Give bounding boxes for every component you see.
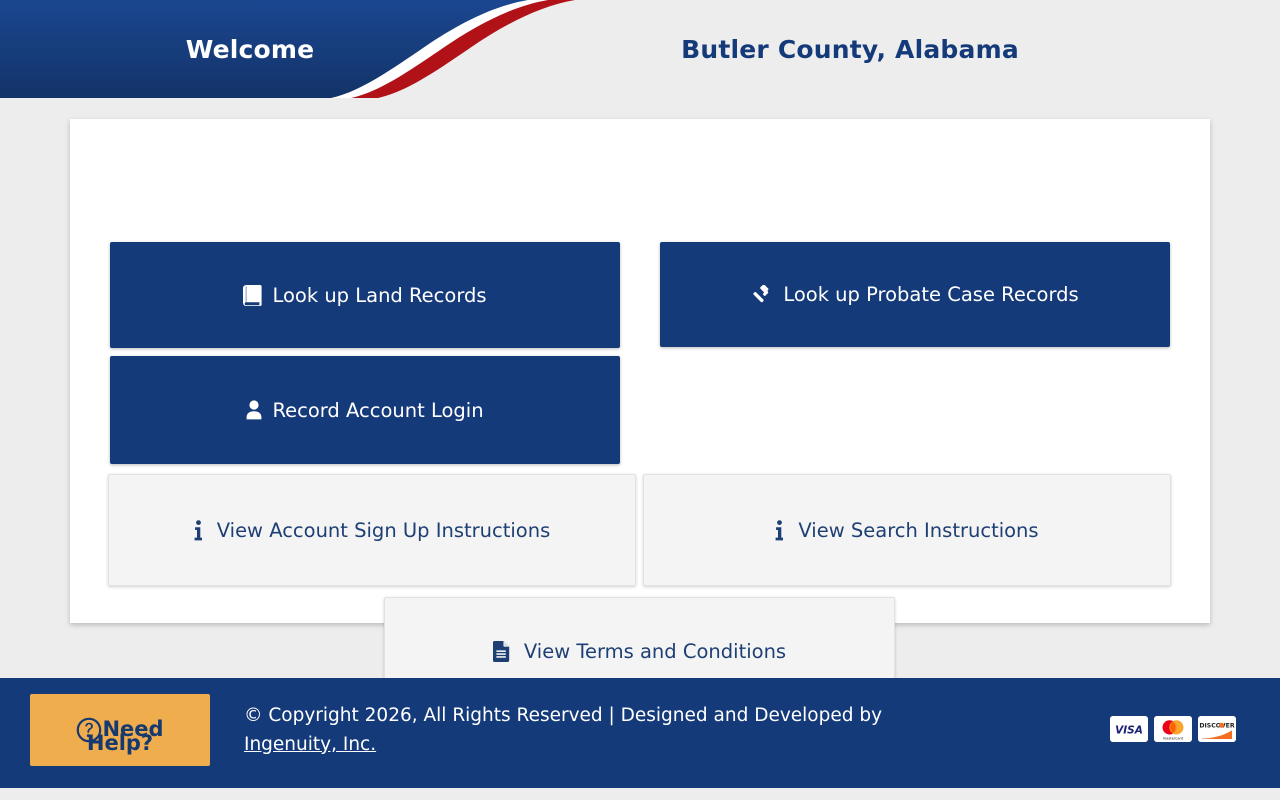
view-account-signup-instructions-button[interactable]: View Account Sign Up Instructions (108, 474, 636, 586)
view-terms-and-conditions-label: View Terms and Conditions (524, 640, 786, 663)
discover-card-icon: DISCOVER (1198, 716, 1236, 742)
view-search-instructions-button[interactable]: View Search Instructions (643, 474, 1171, 586)
document-icon (493, 641, 510, 662)
footer-copyright: © Copyright 2026, All Rights Reserved | … (244, 702, 1034, 759)
mastercard-card-icon: mastercard (1154, 716, 1192, 742)
view-search-instructions-label: View Search Instructions (798, 519, 1038, 542)
user-icon (246, 400, 262, 420)
info-icon (194, 520, 203, 541)
payment-card-icons: VISA mastercard DISCOVER (1110, 716, 1236, 742)
record-account-login-button[interactable]: Record Account Login (110, 356, 620, 464)
info-icon (775, 520, 784, 541)
gavel-icon (751, 285, 773, 305)
record-account-login-label: Record Account Login (272, 399, 483, 422)
view-account-signup-instructions-label: View Account Sign Up Instructions (217, 519, 551, 542)
footer-bottom-strip (0, 788, 1280, 800)
header-swoosh-banner (0, 0, 1280, 98)
look-up-probate-case-records-label: Look up Probate Case Records (783, 283, 1078, 306)
copyright-text: © Copyright 2026, All Rights Reserved | … (244, 705, 882, 726)
look-up-land-records-label: Look up Land Records (272, 284, 486, 307)
site-footer: Need Help? © Copyright 2026, All Rights … (0, 678, 1280, 788)
book-icon (243, 285, 262, 306)
look-up-land-records-button[interactable]: Look up Land Records (110, 242, 620, 348)
svg-text:DISCOVER: DISCOVER (1199, 723, 1235, 730)
site-header: Welcome Butler County, Alabama (0, 0, 1280, 98)
visa-card-icon: VISA (1110, 716, 1148, 742)
page-body: Look up Land Records Look up Probate Cas… (0, 98, 1280, 678)
svg-text:VISA: VISA (1115, 725, 1143, 737)
need-help-button[interactable]: Need Help? (30, 694, 210, 766)
need-help-line2: Help? (30, 732, 210, 756)
look-up-probate-case-records-button[interactable]: Look up Probate Case Records (660, 242, 1170, 347)
developer-link[interactable]: Ingenuity, Inc. (244, 734, 376, 755)
svg-text:mastercard: mastercard (1163, 736, 1183, 740)
